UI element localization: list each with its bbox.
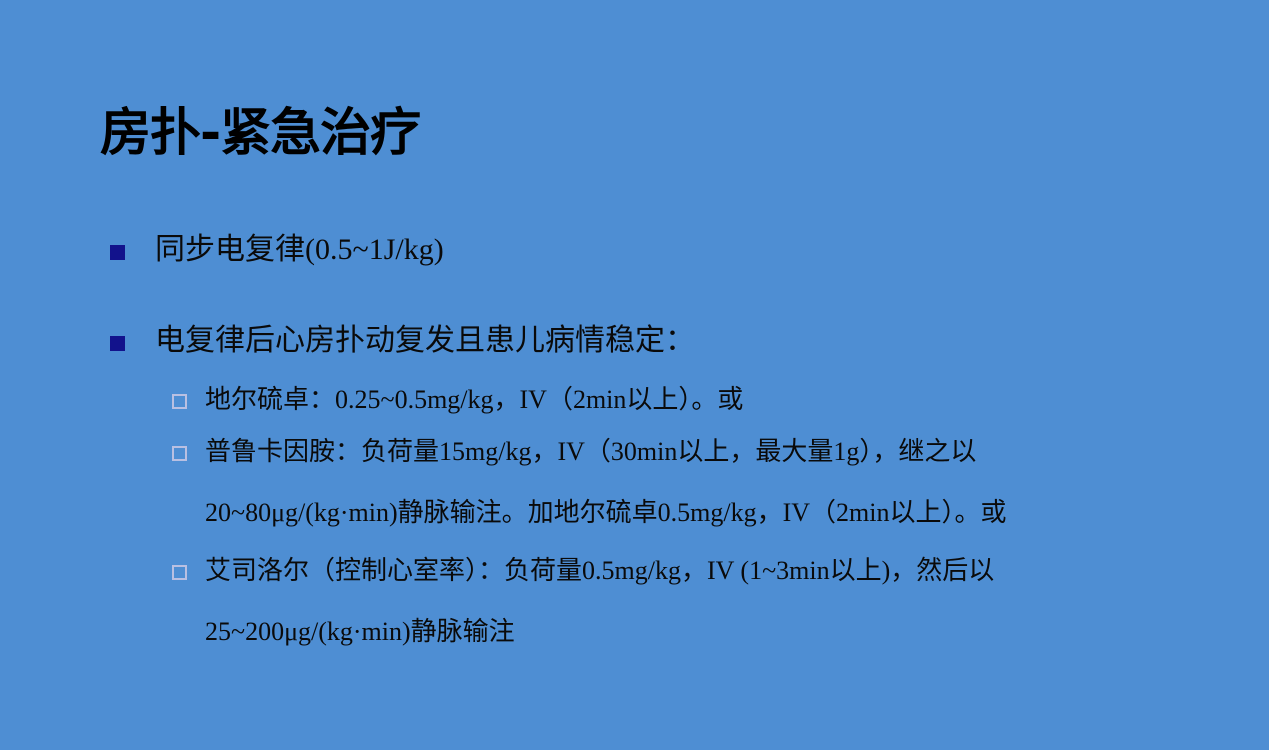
filled-square-bullet-icon: [110, 336, 125, 351]
slide-body-content: 同步电复律(0.5~1J/kg) 电复律后心房扑动复发且患儿病情稳定： 地尔硫卓…: [0, 228, 1269, 657]
bullet-text-level1: 同步电复律(0.5~1J/kg): [155, 233, 444, 266]
slide-title: 房扑-紧急治疗: [100, 104, 420, 164]
presentation-slide: 房扑-紧急治疗 同步电复律(0.5~1J/kg) 电复律后心房扑动复发且患儿病情…: [0, 0, 1269, 750]
bullet-text-level1: 电复律后心房扑动复发且患儿病情稳定：: [155, 324, 695, 357]
bullet-item-level1: 同步电复律(0.5~1J/kg): [0, 228, 1269, 272]
hollow-square-bullet-icon: [172, 565, 187, 580]
bullet-text-level2-continuation: 20~80μg/(kg·min)静脉输注。加地尔硫卓0.5mg/kg，IV（2m…: [205, 494, 1269, 532]
bullet-item-level2: 艾司洛尔（控制心室率）：负荷量0.5mg/kg，IV (1~3min以上)，然后…: [0, 552, 1269, 651]
bullet-text-level2: 艾司洛尔（控制心室率）：负荷量0.5mg/kg，IV (1~3min以上)，然后…: [205, 556, 994, 585]
bullet-item-level1: 电复律后心房扑动复发且患儿病情稳定：: [0, 319, 1269, 363]
hollow-square-bullet-icon: [172, 446, 187, 461]
bullet-item-level2: 地尔硫卓：0.25~0.5mg/kg，IV（2min以上）。或: [0, 381, 1269, 419]
sub-bullet-group: 地尔硫卓：0.25~0.5mg/kg，IV（2min以上）。或 普鲁卡因胺：负荷…: [0, 381, 1269, 651]
bullet-text-level2-continuation: 25~200μg/(kg·min)静脉输注: [205, 613, 1269, 651]
filled-square-bullet-icon: [110, 245, 125, 260]
bullet-text-level2: 地尔硫卓：0.25~0.5mg/kg，IV（2min以上）。或: [205, 385, 743, 414]
hollow-square-bullet-icon: [172, 394, 187, 409]
bullet-item-level2: 普鲁卡因胺：负荷量15mg/kg，IV（30min以上，最大量1g），继之以 2…: [0, 433, 1269, 532]
bullet-text-level2: 普鲁卡因胺：负荷量15mg/kg，IV（30min以上，最大量1g），继之以: [205, 437, 976, 466]
